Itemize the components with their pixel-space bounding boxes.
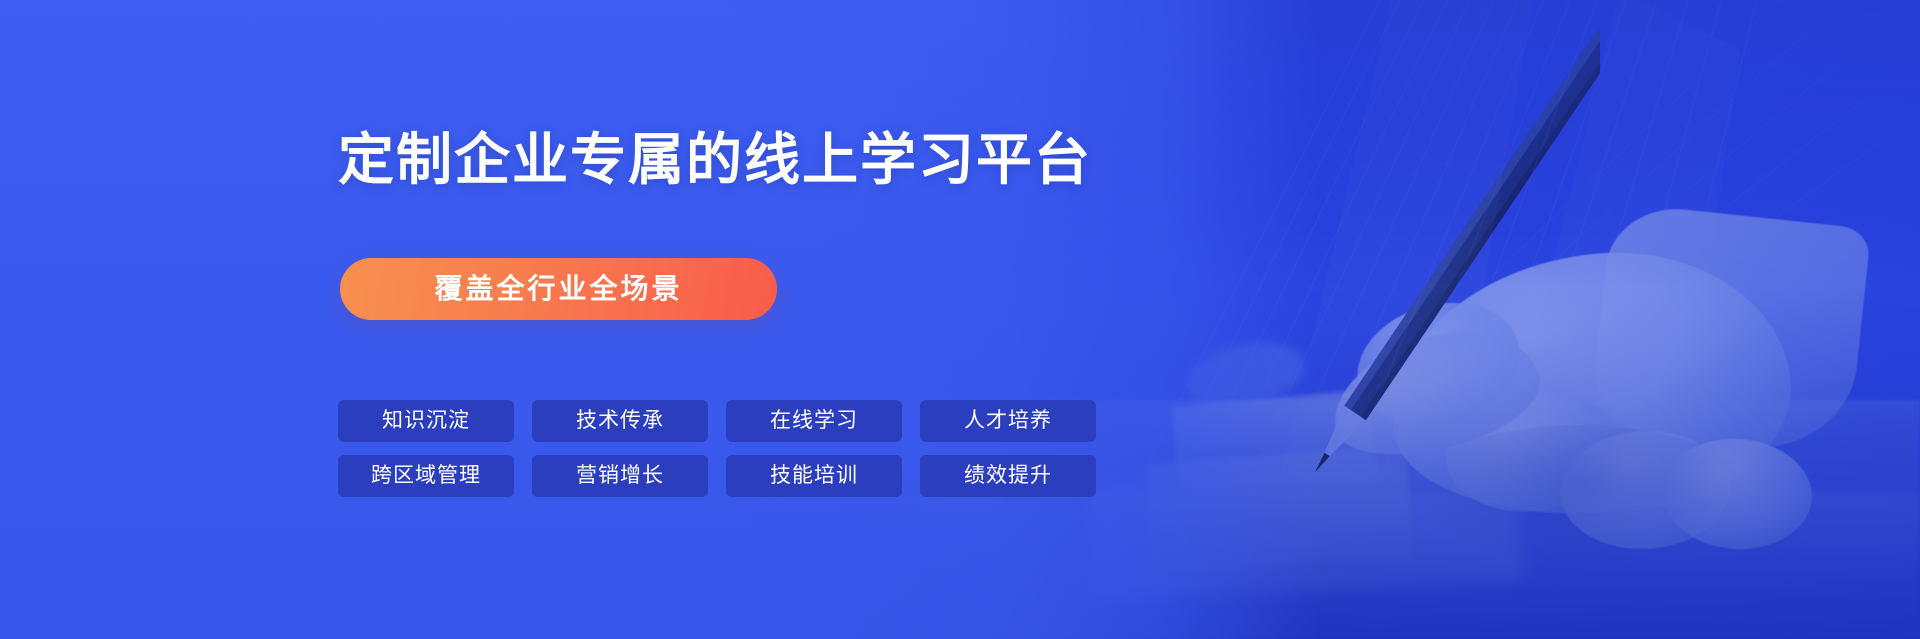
coverage-cta-button[interactable]: 覆盖全行业全场景 xyxy=(340,258,777,320)
page-title: 定制企业专属的线上学习平台 xyxy=(338,128,1092,192)
hero-banner: 定制企业专属的线上学习平台 覆盖全行业全场景 知识沉淀 技术传承 在线学习 人才… xyxy=(0,0,1920,639)
tag-online-learning[interactable]: 在线学习 xyxy=(726,400,902,442)
feature-tag-list: 知识沉淀 技术传承 在线学习 人才培养 跨区域管理 营销增长 技能培训 绩效提升 xyxy=(338,400,1098,497)
tag-performance-improvement[interactable]: 绩效提升 xyxy=(920,455,1096,497)
tag-talent-development[interactable]: 人才培养 xyxy=(920,400,1096,442)
tag-knowledge-precipitation[interactable]: 知识沉淀 xyxy=(338,400,514,442)
tag-marketing-growth[interactable]: 营销增长 xyxy=(532,455,708,497)
tag-skills-training[interactable]: 技能培训 xyxy=(726,455,902,497)
tag-technology-inheritance[interactable]: 技术传承 xyxy=(532,400,708,442)
banner-content: 定制企业专属的线上学习平台 覆盖全行业全场景 知识沉淀 技术传承 在线学习 人才… xyxy=(338,0,1238,639)
tag-cross-region-management[interactable]: 跨区域管理 xyxy=(338,455,514,497)
